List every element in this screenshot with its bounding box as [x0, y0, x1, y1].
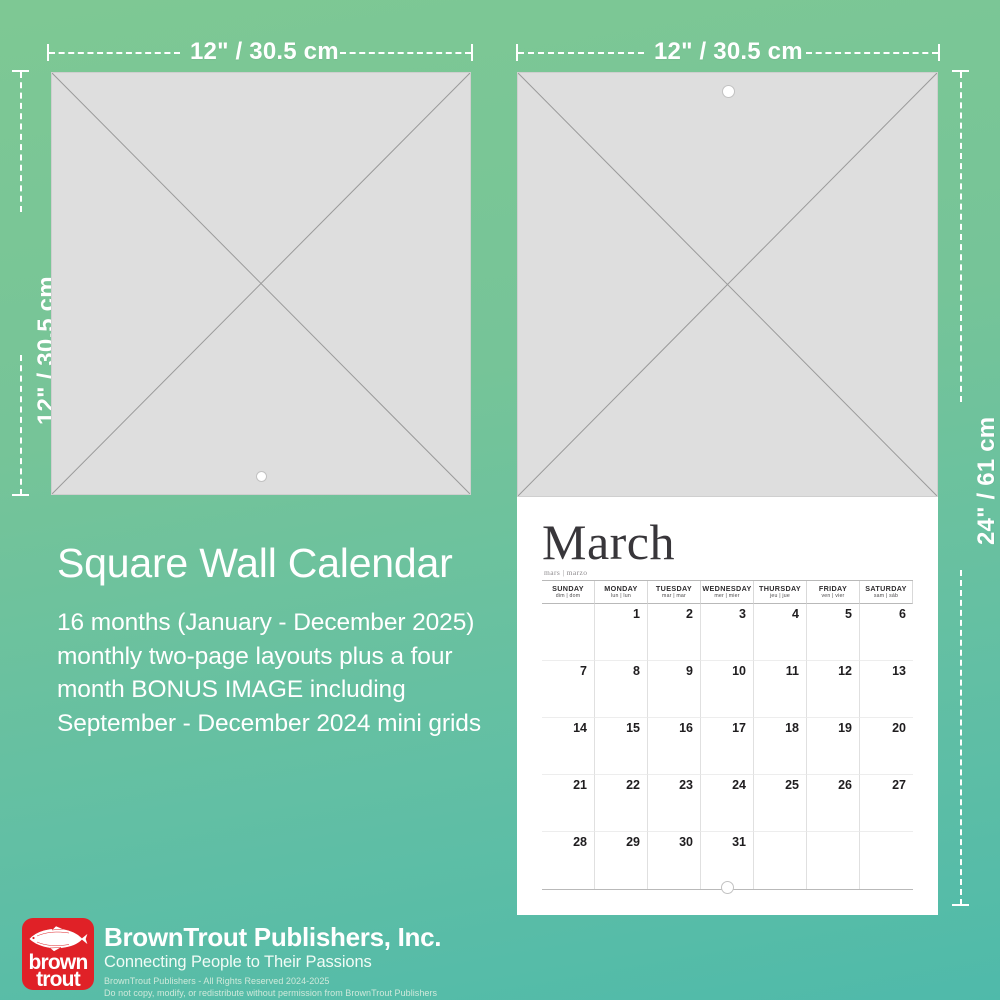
day-cell[interactable]: 23 — [648, 775, 701, 832]
description-line: September - December 2024 mini grids — [57, 707, 507, 741]
hole-punch — [722, 85, 735, 98]
weekday-name-translated: mar | mar — [648, 593, 700, 600]
dimension-dash-bottom — [960, 570, 962, 905]
day-cell[interactable] — [807, 832, 860, 889]
description-line: 16 months (January - December 2025) — [57, 606, 507, 640]
day-cell[interactable]: 29 — [595, 832, 648, 889]
day-number: 29 — [626, 835, 640, 849]
weekday-name: WEDNESDAY — [701, 584, 753, 593]
calendar-month-subtitle: mars | marzo — [544, 568, 587, 577]
day-cell[interactable]: 3 — [701, 604, 754, 661]
dimension-cap-right — [471, 44, 473, 61]
copyright-notice: BrownTrout Publishers - All Rights Reser… — [104, 976, 437, 1000]
dimension-cap-bottom — [12, 494, 29, 496]
copyright-line-2: Do not copy, modify, or redistribute wit… — [104, 988, 437, 1000]
calendar-grid-page: March mars | marzo SUNDAYdim | domMONDAY… — [517, 497, 938, 915]
day-number: 10 — [732, 664, 746, 678]
weekday-name-translated: ven | vier — [807, 593, 859, 600]
publisher-name: BrownTrout Publishers, Inc. — [104, 922, 441, 953]
footer-bar: brown trout BrownTrout Publishers, Inc. … — [0, 908, 1000, 1000]
day-cell[interactable]: 6 — [860, 604, 913, 661]
dimension-dash-right — [340, 52, 471, 54]
day-cell[interactable]: 7 — [542, 661, 595, 718]
day-number: 27 — [892, 778, 906, 792]
day-number: 18 — [785, 721, 799, 735]
day-cell[interactable]: 14 — [542, 718, 595, 775]
day-number: 7 — [580, 664, 587, 678]
day-cell[interactable]: 9 — [648, 661, 701, 718]
dimension-label-top-left: 12" / 30.5 cm — [190, 38, 339, 66]
dimension-dash-left — [518, 52, 644, 54]
dimension-cap-bottom — [952, 904, 969, 906]
day-number: 6 — [899, 607, 906, 621]
day-cell[interactable]: 13 — [860, 661, 913, 718]
browntrout-logo[interactable]: brown trout — [22, 918, 94, 990]
weekday-name: FRIDAY — [807, 584, 859, 593]
day-number: 31 — [732, 835, 746, 849]
day-cell[interactable]: 5 — [807, 604, 860, 661]
dimension-dash-top — [960, 72, 962, 402]
day-cell[interactable]: 17 — [701, 718, 754, 775]
weekday-name-translated: sam | sáb — [860, 593, 912, 600]
day-cell[interactable]: 1 — [595, 604, 648, 661]
placeholder-cross-icon — [518, 73, 937, 496]
product-description: 16 months (January - December 2025)month… — [57, 606, 507, 740]
day-cell[interactable] — [754, 832, 807, 889]
day-number: 22 — [626, 778, 640, 792]
weekday-name: TUESDAY — [648, 584, 700, 593]
day-number: 23 — [679, 778, 693, 792]
weekday-header-thursday: THURSDAYjeu | jue — [754, 581, 807, 604]
month-grid: SUNDAYdim | domMONDAYlun | lunTUESDAYmar… — [542, 580, 913, 890]
day-cell[interactable]: 18 — [754, 718, 807, 775]
day-cell[interactable]: 8 — [595, 661, 648, 718]
description-line: month BONUS IMAGE including — [57, 673, 507, 707]
day-number: 19 — [838, 721, 852, 735]
day-number: 8 — [633, 664, 640, 678]
calendar-month-title: March — [542, 517, 675, 567]
dimension-dash-top — [20, 72, 22, 212]
day-cell[interactable]: 22 — [595, 775, 648, 832]
day-number: 25 — [785, 778, 799, 792]
dimension-dash-left — [49, 52, 180, 54]
day-cell[interactable]: 10 — [701, 661, 754, 718]
day-cell[interactable]: 19 — [807, 718, 860, 775]
day-number: 3 — [739, 607, 746, 621]
day-cell[interactable]: 24 — [701, 775, 754, 832]
day-cell[interactable] — [542, 604, 595, 661]
day-cell[interactable]: 2 — [648, 604, 701, 661]
weekday-header-friday: FRIDAYven | vier — [807, 581, 860, 604]
day-number: 16 — [679, 721, 693, 735]
weekday-name: SUNDAY — [542, 584, 594, 593]
calendar-image-panel-right — [517, 72, 938, 497]
day-cell[interactable]: 4 — [754, 604, 807, 661]
hole-punch — [721, 881, 734, 894]
day-number: 11 — [786, 664, 799, 678]
day-number: 15 — [626, 721, 640, 735]
day-number: 20 — [892, 721, 906, 735]
day-cell[interactable]: 15 — [595, 718, 648, 775]
day-cell[interactable]: 25 — [754, 775, 807, 832]
day-number: 2 — [686, 607, 693, 621]
day-number: 9 — [686, 664, 693, 678]
day-cell[interactable]: 26 — [807, 775, 860, 832]
weekday-header-tuesday: TUESDAYmar | mar — [648, 581, 701, 604]
copyright-line-1: BrownTrout Publishers - All Rights Reser… — [104, 976, 437, 988]
day-number: 13 — [892, 664, 906, 678]
dimension-dash-bottom — [20, 355, 22, 495]
day-cell[interactable]: 27 — [860, 775, 913, 832]
day-cell[interactable]: 20 — [860, 718, 913, 775]
day-cell[interactable]: 11 — [754, 661, 807, 718]
dimension-dash-right — [806, 52, 938, 54]
day-number: 17 — [732, 721, 746, 735]
day-cell[interactable]: 28 — [542, 832, 595, 889]
product-headline: Square Wall Calendar — [57, 540, 453, 587]
day-cell[interactable]: 30 — [648, 832, 701, 889]
day-number: 5 — [845, 607, 852, 621]
placeholder-cross-icon — [52, 73, 470, 494]
day-number: 28 — [573, 835, 587, 849]
weekday-name: SATURDAY — [860, 584, 912, 593]
dimension-label-right: 24" / 61 cm — [973, 417, 1000, 545]
weekday-name-translated: jeu | jue — [754, 593, 806, 600]
weekday-name-translated: mer | mier — [701, 593, 753, 600]
day-number: 1 — [633, 607, 640, 621]
weekday-header-wednesday: WEDNESDAYmer | mier — [701, 581, 754, 604]
day-number: 14 — [573, 721, 587, 735]
day-number: 21 — [573, 778, 587, 792]
day-number: 12 — [838, 664, 852, 678]
day-number: 24 — [732, 778, 746, 792]
weekday-name: MONDAY — [595, 584, 647, 593]
day-number: 30 — [679, 835, 693, 849]
day-cell[interactable] — [860, 832, 913, 889]
dimension-label-top-right: 12" / 30.5 cm — [654, 38, 803, 66]
weekday-name-translated: dim | dom — [542, 593, 594, 600]
dimension-cap-right — [938, 44, 940, 61]
day-number: 4 — [792, 607, 799, 621]
hole-punch — [256, 471, 267, 482]
weekday-header-sunday: SUNDAYdim | dom — [542, 581, 595, 604]
publisher-tagline: Connecting People to Their Passions — [104, 953, 372, 972]
description-line: monthly two-page layouts plus a four — [57, 640, 507, 674]
logo-word-trout: trout — [22, 968, 94, 990]
trout-fish-icon — [26, 923, 90, 953]
day-cell[interactable]: 21 — [542, 775, 595, 832]
weekday-name-translated: lun | lun — [595, 593, 647, 600]
weekday-header-saturday: SATURDAYsam | sáb — [860, 581, 913, 604]
weekday-header-monday: MONDAYlun | lun — [595, 581, 648, 604]
product-listing-image: 12" / 30.5 cm 12" / 30.5 cm 12" / 30.5 c… — [0, 0, 1000, 1000]
day-cell[interactable]: 16 — [648, 718, 701, 775]
day-number: 26 — [838, 778, 852, 792]
weekday-name: THURSDAY — [754, 584, 806, 593]
calendar-image-panel-left — [51, 72, 471, 495]
day-cell[interactable]: 12 — [807, 661, 860, 718]
